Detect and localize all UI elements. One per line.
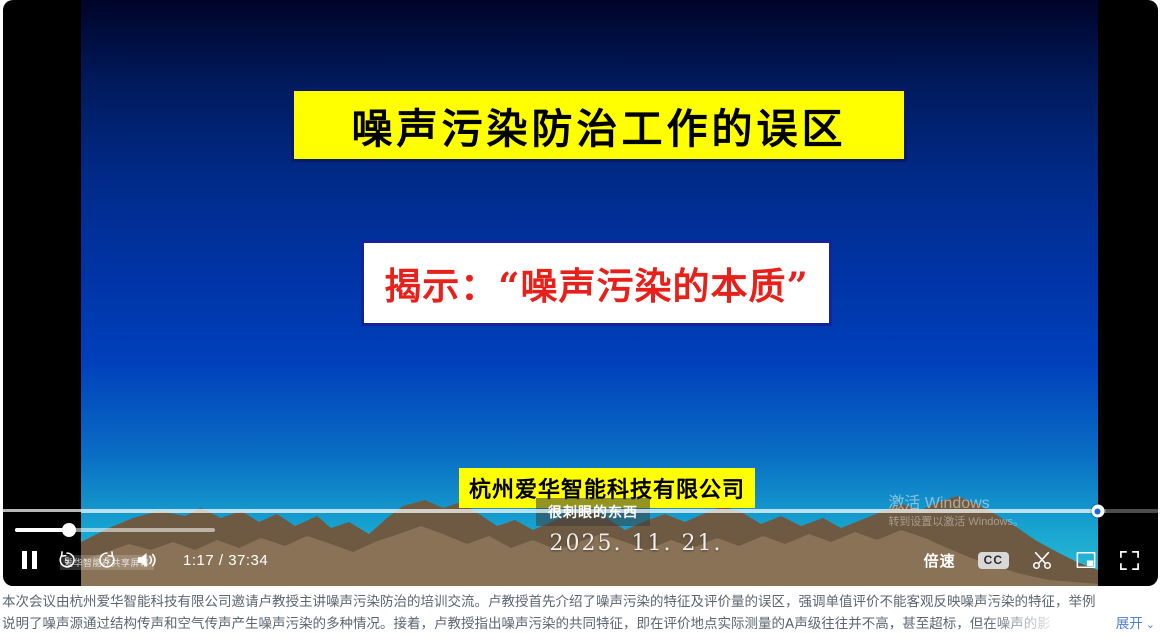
slide-title: 噪声污染防治工作的误区 <box>291 88 907 162</box>
description-fade <box>985 613 1095 635</box>
svg-text:5: 5 <box>65 557 70 566</box>
seek-progress <box>3 509 1098 513</box>
left-controls: 5 5 1:17 / 37:34 <box>21 542 268 578</box>
rewind-5-button[interactable]: 5 <box>56 549 78 571</box>
captions-button[interactable]: CC <box>978 552 1009 569</box>
right-controls: 倍速 CC <box>924 542 1140 578</box>
volume-slider[interactable] <box>15 523 215 537</box>
forward-5-button[interactable]: 5 <box>96 549 118 571</box>
svg-text:5: 5 <box>105 557 110 566</box>
expand-description-button[interactable]: 展开⌄ <box>1116 613 1155 636</box>
video-description: 本次会议由杭州爱华智能科技有限公司邀请卢教授主讲噪声污染防治的培训交流。卢教授首… <box>0 586 1161 637</box>
pause-button[interactable] <box>21 550 38 570</box>
time-display: 1:17 / 37:34 <box>183 552 268 569</box>
player-controls[interactable]: 5 5 1:17 / 37:34 爱华智能在共享屏幕 <box>3 531 1158 586</box>
expand-label: 展开 <box>1116 616 1143 632</box>
scissors-icon[interactable] <box>1031 549 1053 571</box>
video-player[interactable]: 噪声污染防治工作的误区 揭示：“噪声污染的本质” 杭州爱华智能科技有限公司 很刺… <box>3 0 1158 586</box>
volume-fill <box>15 528 69 532</box>
picture-in-picture-icon[interactable] <box>1075 550 1097 570</box>
seek-bar[interactable] <box>3 509 1158 513</box>
volume-handle[interactable] <box>62 523 76 537</box>
video-frame[interactable]: 噪声污染防治工作的误区 揭示：“噪声污染的本质” 杭州爱华智能科技有限公司 很刺… <box>81 0 1098 586</box>
chevron-down-icon: ⌄ <box>1146 614 1155 636</box>
seek-handle[interactable] <box>1091 505 1104 518</box>
fullscreen-icon[interactable] <box>1119 550 1140 571</box>
playback-speed-button[interactable]: 倍速 <box>924 550 956 571</box>
slide-subtitle: 揭示：“噪声污染的本质” <box>361 240 832 326</box>
volume-button[interactable] <box>136 550 159 570</box>
description-line-1: 本次会议由杭州爱华智能科技有限公司邀请卢教授主讲噪声污染防治的培训交流。卢教授首… <box>2 591 1161 613</box>
description-line-2-row: 说明了噪声源通过结构传声和空气传声产生噪声污染的多种情况。接着，卢教授指出噪声污… <box>2 613 1161 635</box>
